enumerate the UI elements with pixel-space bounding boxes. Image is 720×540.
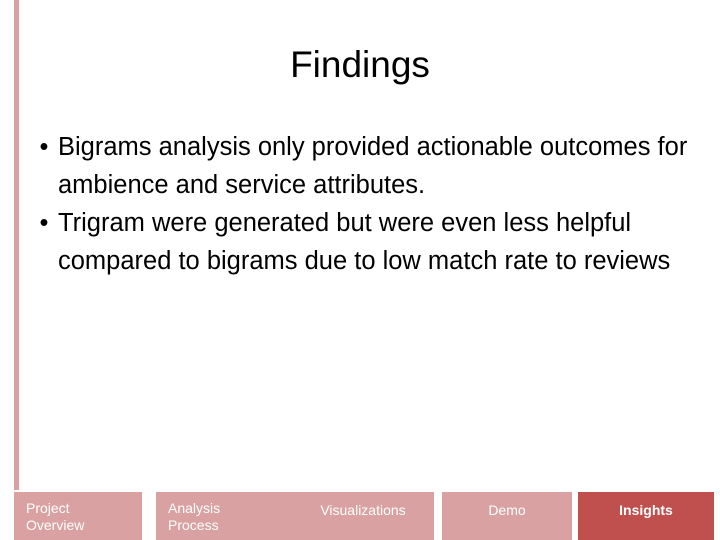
nav-item-analysis-process[interactable]: Analysis Process	[156, 492, 296, 540]
nav-item-label: Project	[26, 500, 70, 516]
slide: Findings • Bigrams analysis only provide…	[0, 0, 720, 540]
nav-item-label: Insights	[619, 502, 673, 518]
nav-item-label-line2: Overview	[26, 517, 142, 534]
bullet-icon: •	[30, 128, 58, 166]
page-title: Findings	[0, 44, 720, 86]
nav-item-label: Analysis	[168, 500, 220, 516]
nav-item-demo[interactable]: Demo	[442, 492, 572, 540]
nav-item-insights[interactable]: Insights	[578, 492, 714, 540]
nav-item-label: Demo	[488, 502, 525, 518]
nav-item-visualizations[interactable]: Visualizations	[292, 492, 434, 540]
bullet-list: • Bigrams analysis only provided actiona…	[30, 128, 690, 280]
bottom-navigation: Project Overview Analysis Process Visual…	[0, 484, 720, 540]
nav-item-label: Visualizations	[320, 502, 405, 518]
bullet-icon: •	[30, 204, 58, 242]
nav-item-label-line2: Process	[168, 517, 296, 534]
list-item-text: Trigram were generated but were even les…	[58, 204, 690, 280]
nav-item-project-overview[interactable]: Project Overview	[14, 492, 142, 540]
list-item: • Trigram were generated but were even l…	[30, 204, 690, 280]
list-item-text: Bigrams analysis only provided actionabl…	[58, 128, 690, 204]
list-item: • Bigrams analysis only provided actiona…	[30, 128, 690, 204]
